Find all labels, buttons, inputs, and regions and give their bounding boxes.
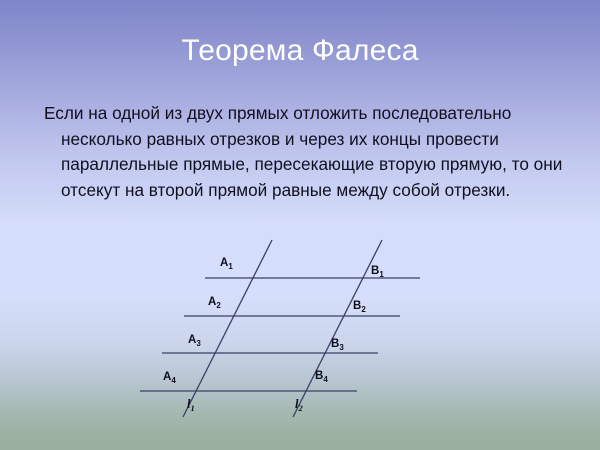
point-label-B2: B2: [353, 301, 366, 313]
point-label-A1: A1: [220, 258, 233, 270]
point-label-B4: B4: [315, 371, 328, 383]
thales-theorem-figure: [0, 0, 600, 450]
point-label-A3: A3: [188, 335, 201, 347]
point-label-B3: B3: [331, 339, 344, 351]
presentation-slide: Теорема Фалеса Если на одной из двух пря…: [0, 0, 600, 450]
point-label-B1: B1: [371, 266, 384, 278]
point-label-A4: A4: [163, 372, 176, 384]
point-label-A2: A2: [208, 297, 221, 309]
line-label-l1: l1: [187, 398, 195, 411]
line-label-l2: l2: [295, 398, 303, 411]
parallel-lines-group: [140, 278, 420, 391]
